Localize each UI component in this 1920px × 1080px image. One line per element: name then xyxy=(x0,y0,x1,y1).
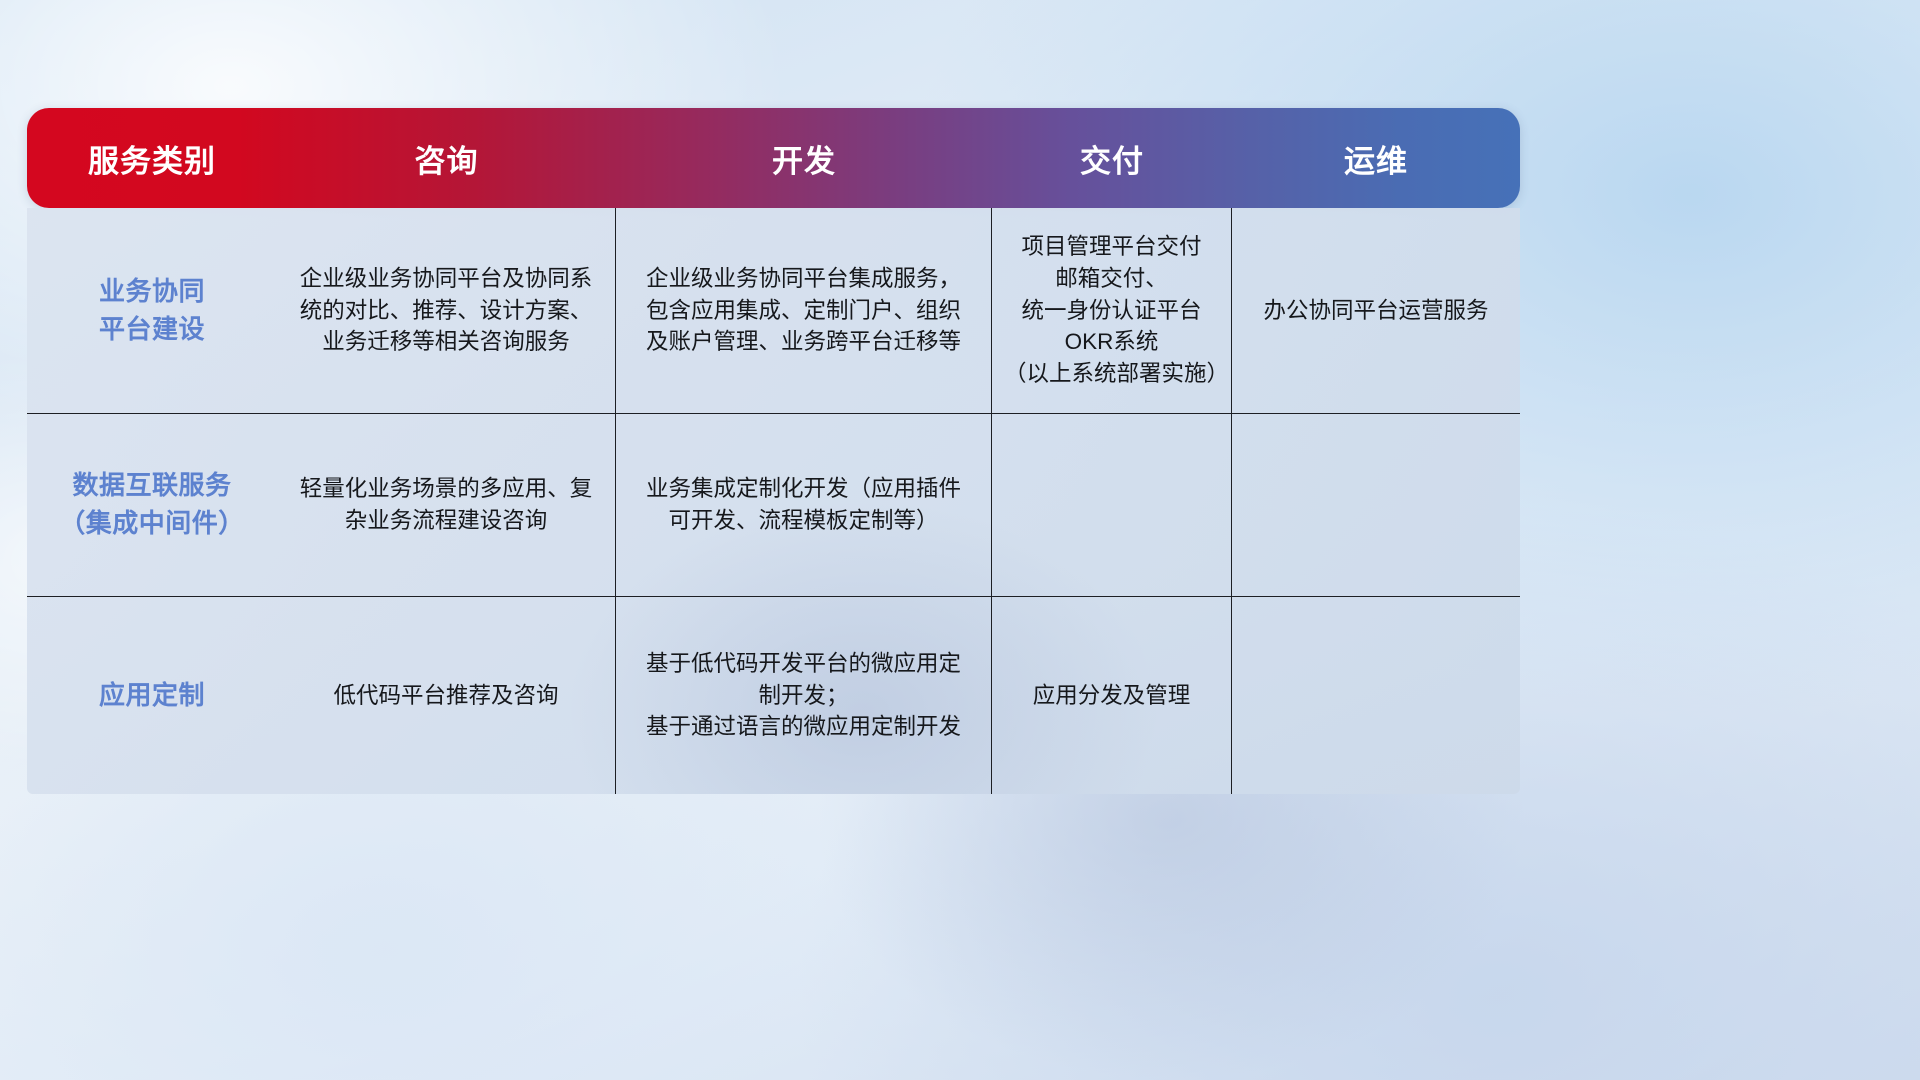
cell-development: 业务集成定制化开发（应用插件可开发、流程模板定制等） xyxy=(616,414,992,596)
cell-consulting: 轻量化业务场景的多应用、复杂业务流程建设咨询 xyxy=(277,414,616,596)
cell-consulting: 企业级业务协同平台及协同系统的对比、推荐、设计方案、业务迁移等相关咨询服务 xyxy=(277,208,616,413)
table-body: 业务协同平台建设 企业级业务协同平台及协同系统的对比、推荐、设计方案、业务迁移等… xyxy=(27,208,1520,794)
cell-consulting: 低代码平台推荐及咨询 xyxy=(277,597,616,794)
table-header-row: 服务类别 咨询 开发 交付 运维 xyxy=(27,108,1520,208)
cell-operations: 办公协同平台运营服务 xyxy=(1232,208,1520,413)
cell-operations xyxy=(1232,414,1520,596)
cell-delivery: 应用分发及管理 xyxy=(992,597,1232,794)
column-header-delivery: 交付 xyxy=(992,108,1232,208)
row-category-label: 应用定制 xyxy=(27,597,277,794)
cell-delivery: 项目管理平台交付邮箱交付、统一身份认证平台OKR系统（以上系统部署实施） xyxy=(992,208,1232,413)
row-category-label: 数据互联服务（集成中间件） xyxy=(27,414,277,596)
cell-development: 企业级业务协同平台集成服务，包含应用集成、定制门户、组织及账户管理、业务跨平台迁… xyxy=(616,208,992,413)
column-header-development: 开发 xyxy=(616,108,992,208)
table-row: 数据互联服务（集成中间件） 轻量化业务场景的多应用、复杂业务流程建设咨询 业务集… xyxy=(27,414,1520,597)
table-row: 业务协同平台建设 企业级业务协同平台及协同系统的对比、推荐、设计方案、业务迁移等… xyxy=(27,208,1520,414)
column-header-consulting: 咨询 xyxy=(277,108,616,208)
cell-delivery xyxy=(992,414,1232,596)
column-header-service-category: 服务类别 xyxy=(27,108,277,208)
table-row: 应用定制 低代码平台推荐及咨询 基于低代码开发平台的微应用定制开发；基于通过语言… xyxy=(27,597,1520,794)
cell-operations xyxy=(1232,597,1520,794)
column-header-operations: 运维 xyxy=(1232,108,1520,208)
cell-development: 基于低代码开发平台的微应用定制开发；基于通过语言的微应用定制开发 xyxy=(616,597,992,794)
service-matrix-table: 服务类别 咨询 开发 交付 运维 业务协同平台建设 企业级业务协同平台及协同系统… xyxy=(27,108,1520,794)
row-category-label: 业务协同平台建设 xyxy=(27,208,277,413)
